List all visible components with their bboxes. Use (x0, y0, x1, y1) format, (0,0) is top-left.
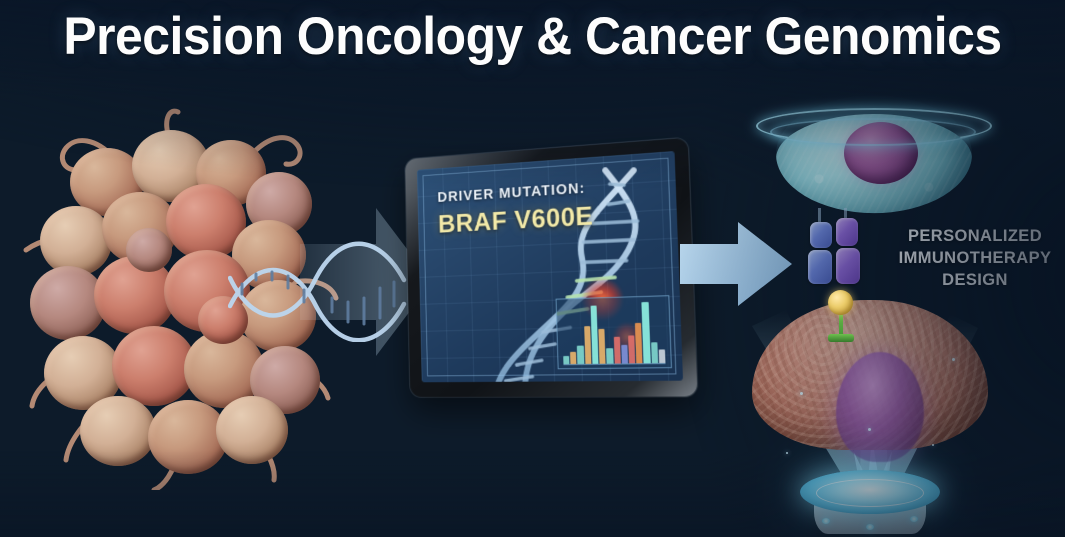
hologram-particle (786, 452, 788, 454)
bar (606, 348, 613, 364)
bar-chart-bars (562, 302, 666, 366)
bar (621, 345, 628, 363)
hologram-particle (868, 428, 871, 431)
caption-line-1: PERSONALIZED (890, 226, 1060, 248)
bar (651, 342, 658, 363)
bar (584, 327, 591, 364)
immunotherapy-caption: PERSONALIZED IMMUNOTHERAPY DESIGN (890, 226, 1060, 291)
bar (635, 323, 643, 363)
receptor-chain-purple-segment (836, 218, 858, 246)
projector-led-icon (822, 518, 830, 524)
bar (570, 352, 577, 364)
genomic-analysis-tablet[interactable]: DRIVER MUTATION: BRAF V600E (405, 138, 697, 397)
driver-mutation-readout: DRIVER MUTATION: BRAF V600E (437, 181, 593, 238)
hologram-particle (932, 444, 934, 446)
projector-disc-ring (816, 479, 924, 507)
tablet-bezel: DRIVER MUTATION: BRAF V600E (405, 138, 697, 397)
page-title: Precision Oncology & Cancer Genomics (32, 6, 1033, 67)
antigen-anchor (828, 334, 854, 342)
receptor-chain-blue-segment (808, 250, 832, 284)
bar (659, 349, 666, 363)
hologram-particle (952, 358, 955, 361)
bar (642, 302, 651, 363)
tumor-lobe (80, 396, 156, 466)
bar (628, 335, 635, 363)
bar (577, 346, 584, 364)
bar (598, 329, 605, 364)
dna-strand-extract (228, 232, 408, 342)
illustration-canvas: DRIVER MUTATION: BRAF V600E (0, 0, 1065, 537)
mutation-hotspot-icon (581, 277, 625, 321)
tablet-screen[interactable]: DRIVER MUTATION: BRAF V600E (417, 151, 683, 382)
caption-line-2: IMMUNOTHERAPY (890, 248, 1060, 270)
antigen-epitope-icon (828, 290, 853, 315)
receptor-chain-purple-segment (836, 248, 860, 284)
hologram-projector[interactable] (792, 470, 948, 530)
tumor-lobe-small (126, 228, 172, 272)
projector-led-icon (910, 516, 918, 522)
mutation-burden-bar-chart[interactable] (556, 295, 672, 369)
bar (563, 356, 569, 364)
hologram-particle (800, 392, 803, 395)
receptor-chain-blue-segment (810, 222, 832, 248)
bar (613, 337, 620, 364)
tumor-lobe (40, 206, 112, 276)
mutation-hotspot-icon (612, 322, 642, 351)
mutation-gene-value: BRAF V600E (438, 203, 594, 238)
tumor-lobe (216, 396, 288, 464)
caption-line-3: DESIGN (890, 270, 1060, 292)
bar (590, 306, 598, 364)
activation-halo-ring-icon (770, 118, 976, 146)
projector-led-icon (866, 524, 874, 530)
